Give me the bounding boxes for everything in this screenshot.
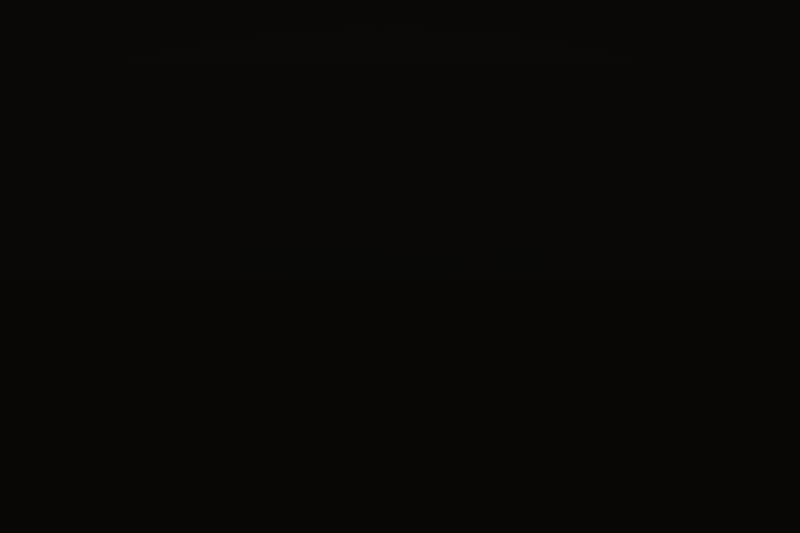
- secondary-fragment-4: • ペ: [728, 260, 760, 286]
- screen-share-icon-group: [451, 28, 473, 38]
- warning-triangle-icon: [465, 30, 473, 37]
- secondary-ref-fragment-4: 2: [738, 460, 745, 473]
- slide-page-number: 6: [668, 30, 679, 48]
- monitor-icon: [451, 28, 464, 38]
- projection-screen-secondary: 知 • 知能 • • • イ 例え • ペ [長 味 [開 2: [712, 21, 800, 501]
- secondary-fragment-3: 例え: [716, 228, 752, 255]
- bullet-pedagogical-machine: ペダゴジカルマシン ［開 12]: [120, 263, 400, 295]
- bullet-kikai-gakushu-chigau: 機械学習で言う教師あり（ラベルあり）学習とは違う: [194, 400, 515, 425]
- secondary-ref-fragment-3: [開: [734, 440, 749, 456]
- screen-divider: [704, 24, 707, 500]
- bullet-chinou-toha: 知能とは: [120, 124, 215, 153]
- text-tatoeba: 例えば: [116, 239, 174, 267]
- screen-share-notification-text: モニタを共有しています。: [335, 28, 448, 41]
- screen-share-notification-bar[interactable]: モニタを共有しています。: [330, 26, 476, 44]
- projection-screen-main: 6 知能とは何か？ 知能とは よりよく生きるための仕組み 予測性の向上（より正確…: [89, 28, 706, 509]
- secondary-ref-fragment-1: [長: [734, 400, 749, 416]
- slide-references: [長井 12]長井隆行, 中村友昭,マルチモーダルカテゴリゼーション：経験を通し…: [111, 418, 691, 494]
- secondary-fragment-dot-2: •: [746, 170, 754, 185]
- bullet-interaction: インタラクションを考える必要性？: [120, 200, 448, 233]
- slide-title: 知能とは何か？: [118, 62, 346, 111]
- bullet-kyoushi-ari-gakushu: 教師あり学習：他者から教えられることが前提: [168, 356, 483, 381]
- screenshot-root: 6 知能とは何か？ 知能とは よりよく生きるための仕組み 予測性の向上（より正確…: [0, 0, 800, 533]
- secondary-fragment-2: • イ: [722, 198, 754, 224]
- slide-content: 6 知能とは何か？ 知能とは よりよく生きるための仕組み 予測性の向上（より正確…: [89, 28, 706, 509]
- secondary-fragment-1: • 知能: [722, 118, 771, 144]
- secondary-fragment-dot-1: •: [746, 146, 754, 161]
- bullet-kankyou-butsuriteki: 環境は物理的な法則に従っている: [194, 337, 398, 360]
- secondary-title-fragment: 知: [734, 60, 764, 105]
- room-wall-left: [44, 40, 90, 511]
- bullet-tasha-ga-iru: 他者がいる: [194, 383, 270, 403]
- secondary-ref-fragment-2: 味: [734, 420, 745, 436]
